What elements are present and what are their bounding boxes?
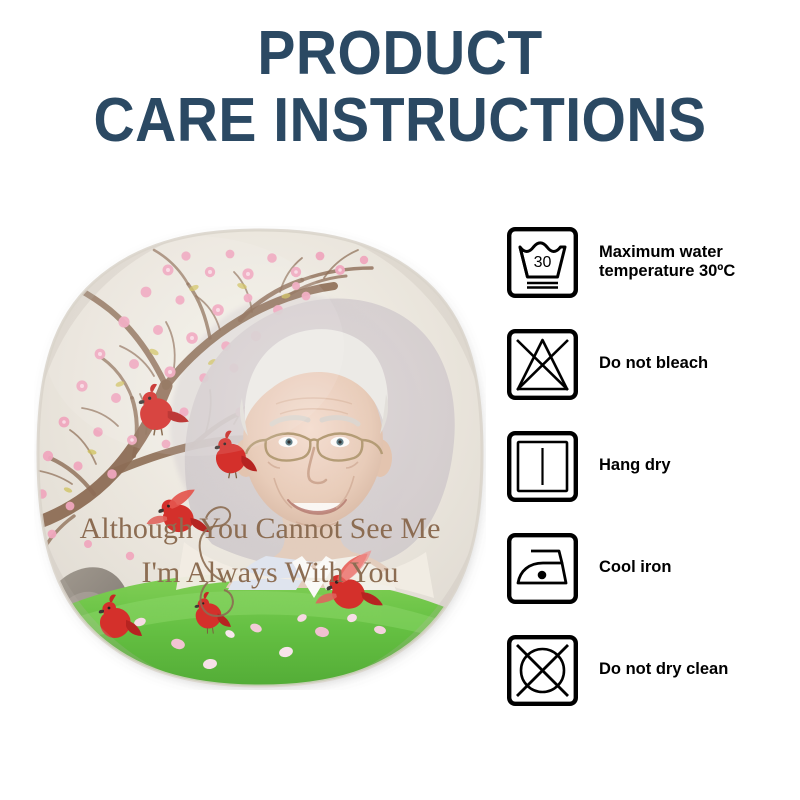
care-label-dryclean: Do not dry clean — [599, 660, 728, 679]
cool-iron-one-dot-icon — [507, 533, 578, 604]
pillow-face: Although You Cannot See Me I'm Always Wi… — [34, 226, 486, 690]
page-title-line-1: PRODUCT — [32, 24, 768, 85]
do-not-bleach-triangle-crossed-icon — [507, 329, 578, 400]
page-title-line-2: CARE INSTRUCTIONS — [32, 91, 768, 152]
hang-dry-square-line-icon — [507, 431, 578, 502]
page-title: PRODUCT CARE INSTRUCTIONS — [0, 24, 800, 152]
care-row-iron: Cool iron — [507, 532, 800, 604]
wash-temperature-value: 30 — [534, 254, 552, 271]
care-instructions-page: PRODUCT CARE INSTRUCTIONS — [0, 0, 800, 800]
care-row-wash: 30 Maximum water temperature 30ºC — [507, 226, 800, 298]
care-row-dry: Hang dry — [507, 430, 800, 502]
do-not-dry-clean-circle-crossed-icon — [507, 635, 578, 706]
care-row-bleach: Do not bleach — [507, 328, 800, 400]
care-instructions-list: 30 Maximum water temperature 30ºC Do not… — [507, 226, 800, 706]
care-label-wash: Maximum water temperature 30ºC — [599, 243, 735, 282]
wash-tub-30-icon: 30 — [507, 227, 578, 298]
care-row-dryclean: Do not dry clean — [507, 634, 800, 706]
round-pillow-illustration: Although You Cannot See Me I'm Always Wi… — [34, 226, 486, 690]
care-label-bleach: Do not bleach — [599, 354, 708, 373]
product-image: Although You Cannot See Me I'm Always Wi… — [34, 226, 486, 690]
care-label-dry: Hang dry — [599, 456, 671, 475]
care-label-iron: Cool iron — [599, 558, 671, 577]
